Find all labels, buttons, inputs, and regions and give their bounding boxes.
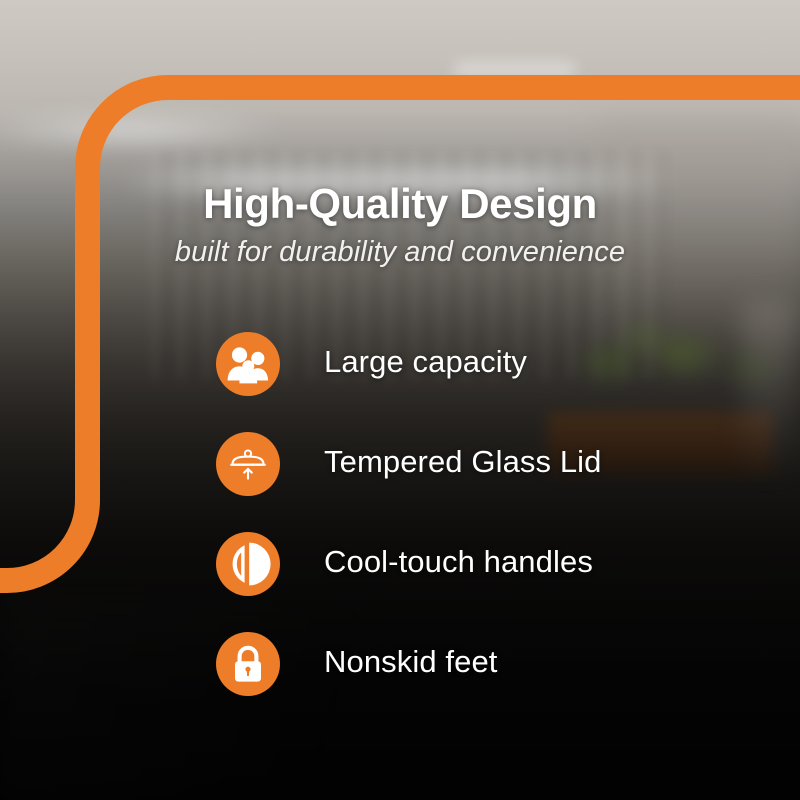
feature-item-nonskid-feet: Nonskid feet bbox=[216, 632, 736, 732]
feature-callout-graphic: High-Quality Design built for durability… bbox=[0, 0, 800, 800]
feature-list: Large capacity Tempered Glass Lid bbox=[216, 332, 736, 732]
page-subtitle: built for durability and convenience bbox=[0, 236, 800, 269]
feature-label: Large capacity bbox=[324, 344, 527, 380]
feature-label: Nonskid feet bbox=[324, 644, 498, 680]
feature-label: Tempered Glass Lid bbox=[324, 444, 602, 480]
group-people-icon bbox=[216, 332, 280, 396]
glass-lid-icon bbox=[216, 432, 280, 496]
feature-item-glass-lid: Tempered Glass Lid bbox=[216, 432, 736, 532]
feature-item-cool-touch-handles: Cool-touch handles bbox=[216, 532, 736, 632]
padlock-icon bbox=[216, 632, 280, 696]
feature-label: Cool-touch handles bbox=[324, 544, 593, 580]
page-title: High-Quality Design bbox=[0, 182, 800, 226]
feature-item-large-capacity: Large capacity bbox=[216, 332, 736, 432]
pot-handle-icon bbox=[216, 532, 280, 596]
